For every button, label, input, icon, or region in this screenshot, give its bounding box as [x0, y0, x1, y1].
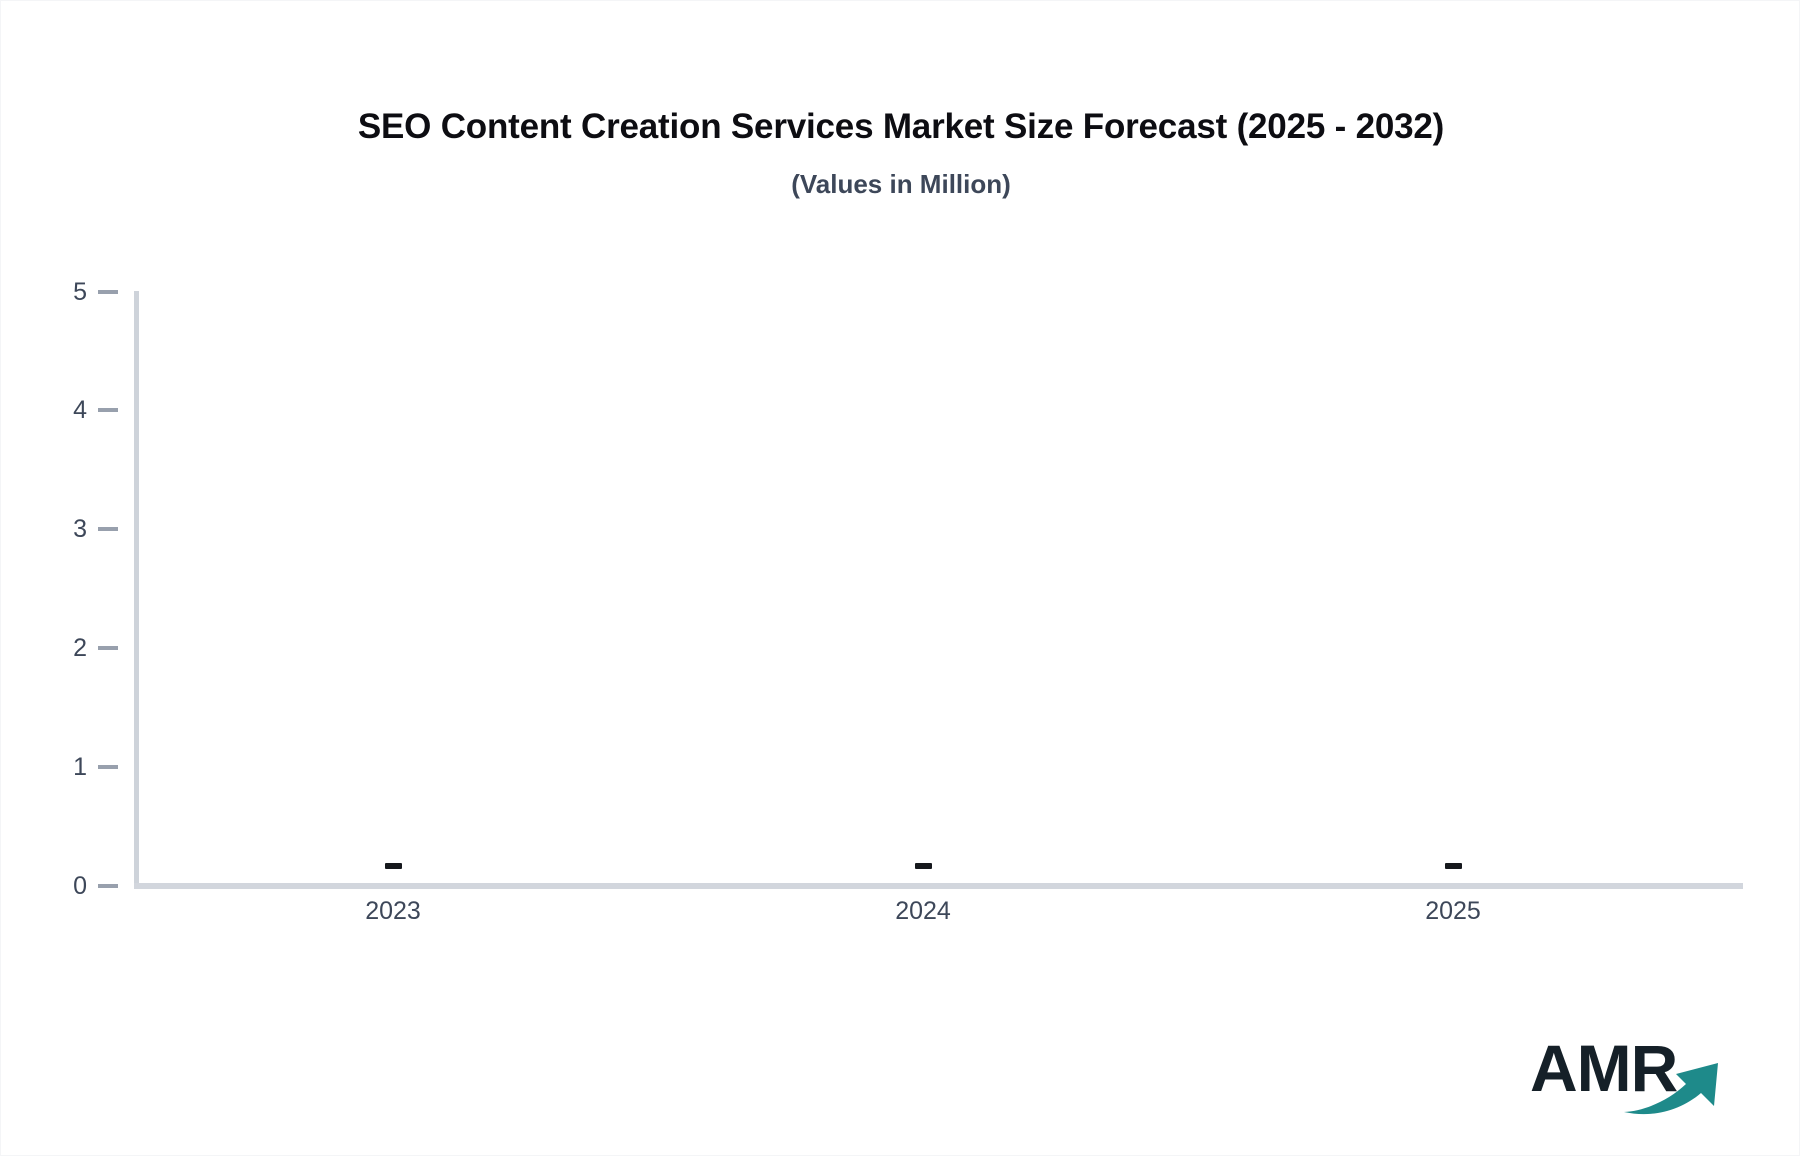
y-axis-tick-label: 4	[73, 395, 87, 425]
growth-arrow-icon	[1622, 1041, 1730, 1117]
y-axis-tick-mark-icon	[98, 646, 118, 650]
y-axis-tick-mark-icon	[98, 290, 118, 294]
y-axis-tick-label: 5	[73, 277, 87, 307]
amr-logo: AMR	[1530, 1023, 1730, 1118]
y-axis-tick-label: 0	[73, 871, 87, 901]
x-axis-label-2023: 2023	[293, 897, 493, 926]
x-axis-label-2024: 2024	[823, 897, 1023, 926]
y-axis-tick-mark-icon	[98, 408, 118, 412]
y-axis-tick-label: 3	[73, 514, 87, 544]
y-axis-tick-label: 1	[73, 752, 87, 782]
chart-subtitle: (Values in Million)	[1, 169, 1800, 200]
y-axis-line	[134, 291, 139, 887]
y-axis-tick-mark-icon	[98, 527, 118, 531]
y-axis-tick-label: 2	[73, 633, 87, 663]
data-marker-2023	[385, 863, 402, 869]
x-axis-line	[134, 883, 1743, 889]
data-marker-2025	[1445, 863, 1462, 869]
chart-canvas: SEO Content Creation Services Market Siz…	[0, 0, 1800, 1156]
y-axis-tick-mark-icon	[98, 765, 118, 769]
y-axis-tick-mark-icon	[98, 884, 118, 888]
data-marker-2024	[915, 863, 932, 869]
x-axis-label-2025: 2025	[1353, 897, 1553, 926]
chart-title: SEO Content Creation Services Market Siz…	[1, 107, 1800, 147]
